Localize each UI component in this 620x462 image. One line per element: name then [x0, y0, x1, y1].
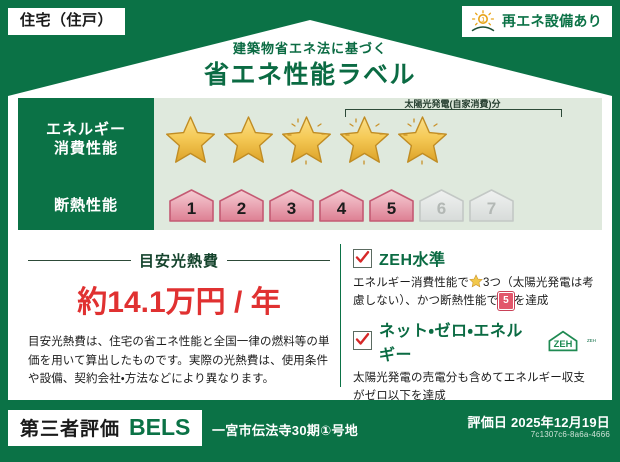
insulation-row-label: 断熱性能 [18, 182, 154, 230]
star-icon [220, 112, 277, 169]
energy-row-label-line1: エネルギー [46, 121, 126, 140]
zeh-logo-icon: ZEH [544, 329, 580, 353]
label-title: 省エネ性能ラベル [0, 55, 620, 91]
label-footer: 第三者評価 BELS 一宮市伝法寺30期①号地 評価日 2025年12月19日 … [0, 400, 620, 462]
bels-logo-text: BELS [129, 414, 190, 441]
evaluation-date-label: 評価日 [468, 415, 508, 430]
zeh-panel: ZEH水準 エネルギー消費性能で3つ（太陽光発電は考慮しない）、かつ断熱性能で5… [341, 238, 602, 393]
heading-rule-left [28, 260, 131, 261]
insulation-level-cell: 6 [418, 188, 465, 223]
insulation-performance-row: 断熱性能 1234567 [18, 182, 602, 230]
insulation-level-number: 2 [237, 199, 246, 223]
checkbox-checked-icon [353, 331, 372, 350]
bels-chip: 第三者評価 BELS [8, 410, 202, 446]
insulation-level-list: 1234567 [168, 188, 515, 223]
insulation-level-number: 7 [487, 199, 496, 223]
insulation-level-number: 3 [287, 199, 296, 223]
evaluation-date-value: 2025年12月19日 [511, 415, 610, 430]
utility-cost-description: 目安光熱費は、住宅の省エネ性能と全国一律の燃料等の単価を用いて算出したものです。… [28, 333, 330, 389]
star-icon [394, 112, 451, 169]
zeh-standard-block: ZEH水準 エネルギー消費性能で3つ（太陽光発電は考慮しない）、かつ断熱性能で5… [353, 246, 596, 311]
insulation-row-body: 1234567 [154, 182, 602, 230]
energy-row-body: 太陽光発電(自家消費)分 [154, 98, 602, 182]
insulation-level-number: 4 [337, 199, 346, 223]
insulation-row-label-text: 断熱性能 [54, 197, 118, 216]
insulation-level-cell: 5 [368, 188, 415, 223]
renewable-chip-label: 再エネ設備あり [502, 11, 602, 31]
svg-text:ﾕ: ﾕ [481, 17, 484, 24]
evaluation-date: 評価日 2025年12月19日 [468, 412, 610, 431]
net-zero-energy-block: ネット・ゼロ・エネルギー ZEH ZEH 太陽光発電の売電分も含めてエネルギー収… [353, 317, 596, 406]
star-rating [162, 112, 451, 169]
star-icon [162, 112, 219, 169]
insulation-level-badge: 5 [498, 292, 514, 310]
zeh-standard-description: エネルギー消費性能で3つ（太陽光発電は考慮しない）、かつ断熱性能で5を達成 [353, 274, 596, 311]
insulation-level-cell: 4 [318, 188, 365, 223]
performance-card: エネルギー 消費性能 太陽光発電(自家消費)分 断熱性能 1234567 [18, 98, 602, 393]
insulation-level-cell: 7 [468, 188, 515, 223]
evaluation-id: 7c1307c6-8a6a-4666 [531, 430, 610, 439]
heading-rule-right [227, 260, 330, 261]
energy-performance-label: 住宅（住戸） ﾕ 再エネ設備あり 建築物省エネ法に基づく 省エネ性能ラベル [0, 0, 620, 462]
insulation-level-number: 5 [387, 199, 396, 223]
third-party-label: 第三者評価 [20, 414, 120, 441]
energy-performance-row: エネルギー 消費性能 太陽光発電(自家消費)分 [18, 98, 602, 182]
zeh-logo-caption: ZEH [587, 338, 596, 343]
insulation-level-cell: 3 [268, 188, 315, 223]
star-icon [278, 112, 335, 169]
zeh-standard-title: ZEH水準 [379, 246, 446, 270]
utility-cost-heading: 目安光熱費 [28, 250, 330, 271]
sun-icon: ﾕ [470, 10, 496, 32]
site-name: 一宮市伝法寺30期①号地 [212, 420, 358, 439]
energy-row-label-line2: 消費性能 [54, 140, 118, 159]
star-icon [336, 112, 393, 169]
insulation-level-cell: 2 [218, 188, 265, 223]
zeh-standard-desc-part2: を達成 [514, 295, 549, 307]
utility-cost-heading-text: 目安光熱費 [139, 250, 219, 271]
utility-cost-panel: 目安光熱費 約14.1万円 / 年 目安光熱費は、住宅の省エネ性能と全国一律の燃… [18, 238, 340, 393]
net-zero-title: ネット・ゼロ・エネルギー [379, 317, 537, 365]
svg-text:ZEH: ZEH [554, 339, 573, 349]
inline-star-icon [469, 277, 483, 289]
zeh-standard-desc-part1: エネルギー消費性能で [353, 277, 469, 289]
net-zero-heading: ネット・ゼロ・エネルギー ZEH ZEH [353, 317, 596, 365]
insulation-level-number: 6 [437, 199, 446, 223]
renewable-equipment-chip: ﾕ 再エネ設備あり [462, 6, 612, 37]
dwelling-type-chip: 住宅（住戸） [8, 8, 125, 35]
insulation-level-cell: 1 [168, 188, 215, 223]
energy-row-label: エネルギー 消費性能 [18, 98, 154, 182]
checkbox-checked-icon [353, 249, 372, 268]
utility-cost-value: 約14.1万円 / 年 [24, 277, 334, 321]
insulation-level-number: 1 [187, 199, 196, 223]
zeh-standard-heading: ZEH水準 [353, 246, 596, 270]
bottom-section: 目安光熱費 約14.1万円 / 年 目安光熱費は、住宅の省エネ性能と全国一律の燃… [18, 238, 602, 393]
